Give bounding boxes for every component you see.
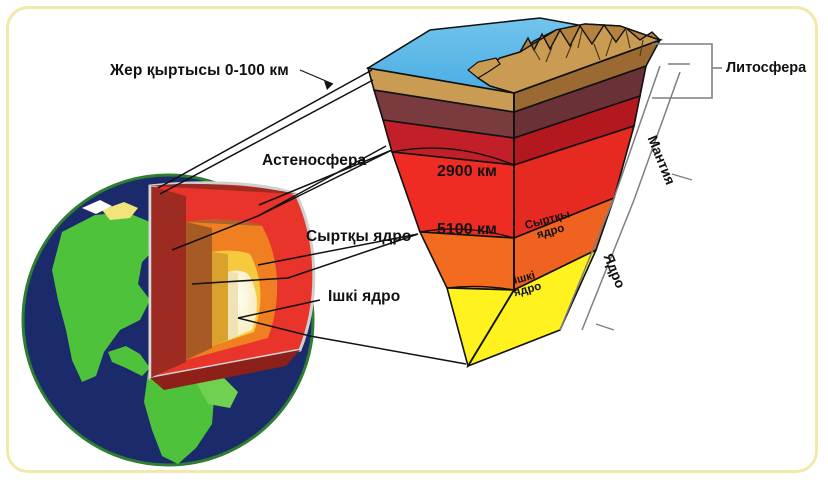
leader-crust-a — [158, 70, 372, 188]
callout-crust: Жер қыртысы 0-100 км — [110, 62, 289, 80]
bracket-label-lithosphere: Литосфера — [726, 60, 806, 76]
bracket-core-tick — [596, 324, 614, 330]
wedge-outer-core — [420, 232, 514, 290]
globe-transition-cut-face — [212, 252, 228, 346]
bracket-lithosphere — [652, 44, 712, 98]
diagram-canvas: Жер қыртысы 0-100 км Астеносфера Сыртқы … — [0, 0, 828, 483]
globe-cutaway — [23, 175, 314, 465]
depth-label-2900: 2900 км — [437, 163, 497, 181]
callout-asthenosphere: Астеносфера — [262, 152, 366, 170]
leader-crust-arrow-line — [300, 70, 333, 84]
leader-crust-b — [160, 80, 373, 194]
callout-inner-core: Ішкі ядро — [328, 288, 400, 306]
globe-mantle-cut-face — [150, 186, 186, 378]
callout-outer-core: Сыртқы ядро — [306, 228, 412, 246]
depth-label-5100: 5100 км — [437, 221, 497, 239]
